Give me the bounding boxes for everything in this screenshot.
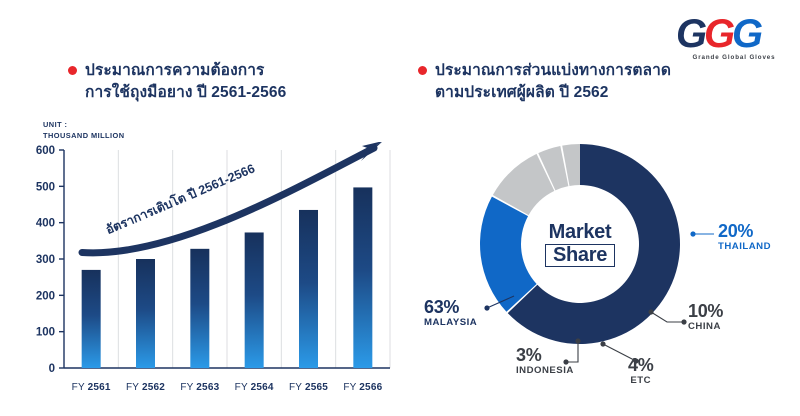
svg-text:G: G xyxy=(678,14,707,54)
callout-thailand: 20% THAILAND xyxy=(718,222,771,254)
callout-etc: 4% ETC xyxy=(628,356,653,388)
svg-text:อัตราการเติบโต ปี 2561-2566: อัตราการเติบโต ปี 2561-2566 xyxy=(103,161,257,238)
svg-text:G: G xyxy=(732,14,763,54)
bar-chart: 0100200300400500600 อัตราการเติบโต ปี 25… xyxy=(18,142,394,394)
ggg-logo: G G G Grande Global Gloves xyxy=(678,14,790,66)
heading-market-share-text: ประมาณการส่วนแบ่งทางการตลาด ตามประเทศผู้… xyxy=(435,60,671,104)
x-axis-label-year: 2563 xyxy=(196,382,219,393)
heading-demand-text: ประมาณการความต้องการ การใช้ถุงมือยาง ปี … xyxy=(85,60,286,104)
callout-malaysia: 63% MALAYSIA xyxy=(424,298,477,330)
heading-market-share: ประมาณการส่วนแบ่งทางการตลาด ตามประเทศผู้… xyxy=(418,60,671,104)
x-axis-label-year: 2562 xyxy=(142,382,165,393)
bar-chart-svg: 0100200300400500600 อัตราการเติบโต ปี 25… xyxy=(18,142,394,394)
ggg-logo-mark: G G G xyxy=(678,14,790,54)
callout-china: 10% CHINA xyxy=(688,302,723,334)
donut-chart-svg xyxy=(474,138,686,350)
svg-text:400: 400 xyxy=(36,218,55,230)
svg-text:300: 300 xyxy=(36,254,55,266)
x-axis-label-prefix: FY xyxy=(343,382,359,393)
svg-text:G: G xyxy=(704,14,735,54)
logo-tagline: Grande Global Gloves xyxy=(678,54,790,61)
x-axis-label: FY 2563 xyxy=(180,382,219,393)
x-axis-label-year: 2561 xyxy=(88,382,111,393)
svg-text:0: 0 xyxy=(49,363,55,375)
callout-malaysia-pct: 63% xyxy=(424,298,477,316)
x-axis-label-year: 2564 xyxy=(251,382,274,393)
callout-etc-pct: 4% xyxy=(628,356,653,374)
x-axis-label: FY 2566 xyxy=(343,382,382,393)
red-dot-icon xyxy=(418,66,427,75)
callout-thailand-pct: 20% xyxy=(718,222,771,240)
x-axis-label: FY 2562 xyxy=(126,382,165,393)
leader-dot-thailand xyxy=(690,231,695,236)
callout-etc-country: ETC xyxy=(628,374,653,388)
callout-indonesia-country: INDONESIA xyxy=(516,364,574,378)
x-axis-label-prefix: FY xyxy=(289,382,305,393)
svg-text:200: 200 xyxy=(36,290,55,302)
x-axis-label: FY 2561 xyxy=(72,382,111,393)
x-axis-label-prefix: FY xyxy=(235,382,251,393)
svg-text:500: 500 xyxy=(36,181,55,193)
trend-arrow-icon: อัตราการเติบโต ปี 2561-2566 xyxy=(82,142,383,253)
bar-chart-x-labels: FY 2561FY 2562FY 2563FY 2564FY 2565FY 25… xyxy=(18,382,394,402)
callout-indonesia: 3% INDONESIA xyxy=(516,346,574,378)
x-axis-label-prefix: FY xyxy=(126,382,142,393)
infographic-canvas: G G G Grande Global Gloves ประมาณการความ… xyxy=(0,0,800,416)
heading-demand: ประมาณการความต้องการ การใช้ถุงมือยาง ปี … xyxy=(68,60,286,104)
svg-text:100: 100 xyxy=(36,327,55,339)
callout-malaysia-country: MALAYSIA xyxy=(424,316,477,330)
x-axis-label-year: 2565 xyxy=(305,382,328,393)
x-axis-label-prefix: FY xyxy=(180,382,196,393)
donut-chart: Market Share xyxy=(474,138,686,350)
x-axis-label: FY 2565 xyxy=(289,382,328,393)
unit-caption: UNIT : THOUSAND MILLION xyxy=(43,120,125,141)
callout-thailand-country: THAILAND xyxy=(718,240,771,254)
callout-indonesia-pct: 3% xyxy=(516,346,574,364)
svg-text:600: 600 xyxy=(36,145,55,157)
callout-china-country: CHINA xyxy=(688,320,723,334)
callout-china-pct: 10% xyxy=(688,302,723,320)
donut-slices xyxy=(480,144,680,344)
red-dot-icon xyxy=(68,66,77,75)
x-axis-label-prefix: FY xyxy=(72,382,88,393)
x-axis-label-year: 2566 xyxy=(359,382,382,393)
x-axis-label: FY 2564 xyxy=(235,382,274,393)
